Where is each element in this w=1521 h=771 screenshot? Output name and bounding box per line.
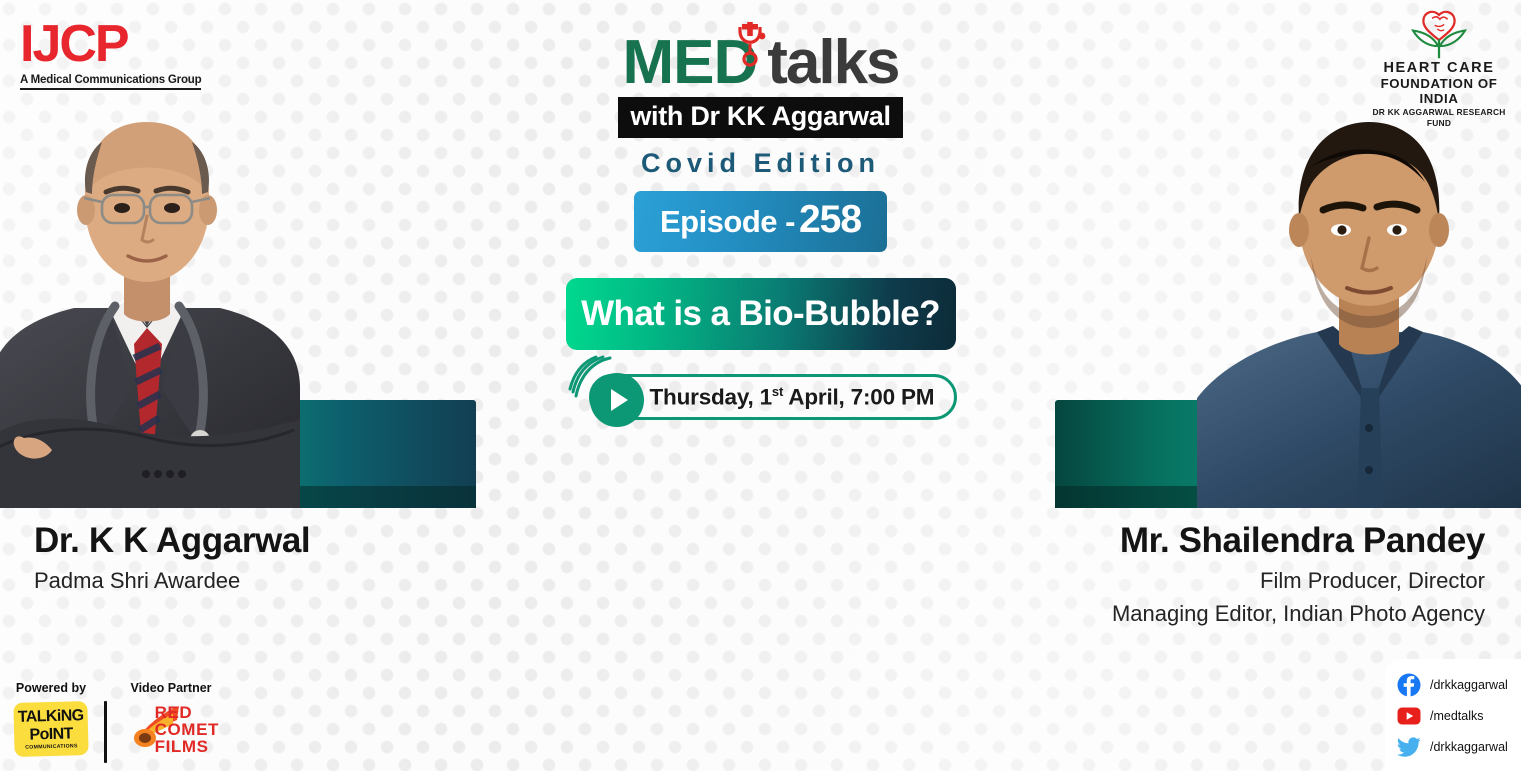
youtube-icon[interactable] [1397,704,1421,728]
play-button[interactable] [590,373,644,427]
speaker-role-line-1: Padma Shri Awardee [34,566,310,595]
speaker-caption-left: Dr. K K Aggarwal Padma Shri Awardee [34,520,310,595]
datetime-pill: Thursday, 1st April, 7:00 PM [589,374,957,420]
speaker-photo-right [1197,88,1521,508]
red-comet-films-logo: RED COMET FILMS [123,702,219,762]
video-partner: Video Partner RED COMET FILMS [123,681,219,762]
social-links-panel: /drkkaggarwal /medtalks /drkkaggarwal [1385,659,1521,771]
heart-flower-icon [1387,8,1491,60]
hcfi-line-3: DR KK AGGARWAL RESEARCH FUND [1369,107,1509,129]
talking-point-logo: TALKiNG PoINT COMMUNICATIONS [13,701,88,757]
episode-number: 258 [799,198,861,241]
talking-point-line-1: TALKiNG [18,708,84,726]
partner-divider [104,701,107,763]
speaker-name: Mr. Shailendra Pandey [1112,520,1485,562]
talking-point-line-2: PoINT [29,725,73,743]
center-content: MED talks with Dr KK Aggarwal Covid Edit… [521,0,1001,430]
social-row-facebook[interactable]: /drkkaggarwal [1397,669,1521,700]
speaker-name: Dr. K K Aggarwal [34,520,310,562]
partner-logos: Powered by TALKiNG PoINT COMMUNICATIONS … [14,681,219,763]
powered-by-partner: Powered by TALKiNG PoINT COMMUNICATIONS [14,681,88,756]
social-row-twitter[interactable]: /drkkaggarwal [1397,731,1521,762]
red-comet-wordmark: RED COMET FILMS [155,704,219,755]
twitter-handle[interactable]: /drkkaggarwal [1430,740,1508,754]
ijcp-logo: IJCP A Medical Communications Group [20,18,220,90]
poster-canvas: IJCP A Medical Communications Group HEAR… [0,0,1521,771]
speaker-photo-left [0,88,312,508]
speaker-caption-right: Mr. Shailendra Pandey Film Producer, Dir… [1112,520,1485,628]
rcf-line-3: FILMS [155,738,219,755]
facebook-icon[interactable] [1397,673,1421,697]
date-ordinal: st [772,384,783,399]
heart-care-foundation-logo: HEART CARE FOUNDATION OF INDIA DR KK AGG… [1369,8,1509,129]
rcf-line-2: COMET [155,721,219,738]
broadcast-datetime: Thursday, 1st April, 7:00 PM [561,374,961,430]
speaker-role-line-2: Managing Editor, Indian Photo Agency [1112,599,1485,628]
hcfi-line-1: HEART CARE [1369,60,1509,76]
datetime-text: Thursday, 1st April, 7:00 PM [650,384,935,411]
stethoscope-icon [729,22,771,70]
powered-by-heading: Powered by [14,681,88,695]
youtube-handle[interactable]: /medtalks [1430,709,1484,723]
speaker-role-line-1: Film Producer, Director [1112,566,1485,595]
date-day: Thursday, 1 [650,384,772,409]
edition-label: Covid Edition [521,148,1001,179]
rcf-line-1: RED [155,704,219,721]
talks-wordmark: talks [767,32,898,94]
ijcp-tagline: A Medical Communications Group [20,74,201,90]
play-triangle-icon [611,389,628,411]
facebook-handle[interactable]: /drkkaggarwal [1430,678,1508,692]
medtalks-logo: MED talks [521,28,1001,94]
topic-text: What is a Bio-Bubble? [581,294,940,334]
twitter-icon[interactable] [1397,735,1421,759]
video-partner-heading: Video Partner [123,681,219,695]
ijcp-wordmark: IJCP [20,18,220,70]
hcfi-line-2: FOUNDATION OF INDIA [1369,76,1509,106]
episode-label: Episode - [660,204,795,239]
episode-badge: Episode -258 [634,191,887,252]
topic-banner: What is a Bio-Bubble? [566,278,956,350]
talking-point-line-3: COMMUNICATIONS [25,743,78,750]
social-row-youtube[interactable]: /medtalks [1397,700,1521,731]
host-bar: with Dr KK Aggarwal [618,97,902,138]
date-rest: April, 7:00 PM [783,384,934,409]
